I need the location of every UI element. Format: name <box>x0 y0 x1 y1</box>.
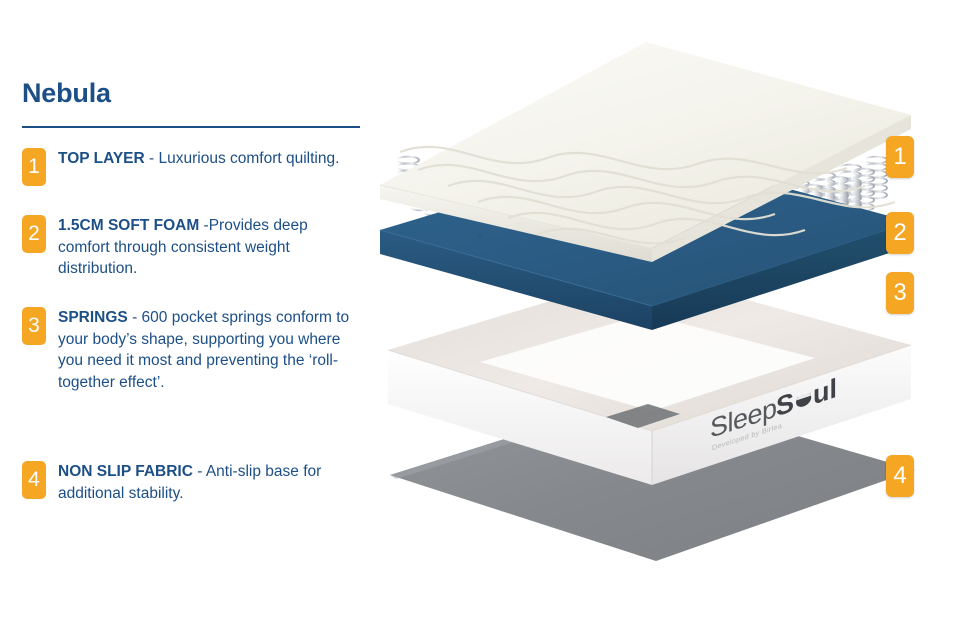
page-title: Nebula <box>22 80 111 107</box>
info-panel: Nebula 1 TOP LAYER - Luxurious comfort q… <box>0 0 390 641</box>
layer-description-3: SPRINGS - 600 pocket springs conform to … <box>58 305 358 393</box>
layer-badge-1: 1 <box>22 148 46 186</box>
layer-item-soft-foam: 2 1.5CM SOFT FOAM -Provides deep comfort… <box>22 213 358 280</box>
layer-badge-4: 4 <box>22 461 46 499</box>
layer-badge-2: 2 <box>22 215 46 253</box>
layer-item-springs: 3 SPRINGS - 600 pocket springs conform t… <box>22 305 358 393</box>
callout-badge-1: 1 <box>886 136 914 178</box>
layer-lead-4: NON SLIP FABRIC <box>58 463 193 480</box>
mattress-exploded-diagram: Sleep S ul Developed by Birlea <box>360 0 960 641</box>
layer-lead-3: SPRINGS <box>58 309 128 326</box>
callout-badge-2: 2 <box>886 212 914 254</box>
layer-body-1: - Luxurious comfort quilting. <box>145 150 340 167</box>
layer-item-non-slip-fabric: 4 NON SLIP FABRIC - Anti-slip base for a… <box>22 459 358 504</box>
mattress-layer-infographic: Nebula 1 TOP LAYER - Luxurious comfort q… <box>0 0 960 641</box>
layer-badge-3: 3 <box>22 307 46 345</box>
layer-lead-2: 1.5CM SOFT FOAM <box>58 217 199 234</box>
layer-description-1: TOP LAYER - Luxurious comfort quilting. <box>58 146 339 170</box>
layer-description-4: NON SLIP FABRIC - Anti-slip base for add… <box>58 459 358 504</box>
layer-item-top-layer: 1 TOP LAYER - Luxurious comfort quilting… <box>22 146 339 186</box>
title-divider <box>22 126 360 128</box>
layer-description-2: 1.5CM SOFT FOAM -Provides deep comfort t… <box>58 213 358 280</box>
layer-lead-1: TOP LAYER <box>58 150 145 167</box>
callout-badge-4: 4 <box>886 455 914 497</box>
brand-name-part2: S <box>776 386 794 422</box>
callout-badge-3: 3 <box>886 272 914 314</box>
